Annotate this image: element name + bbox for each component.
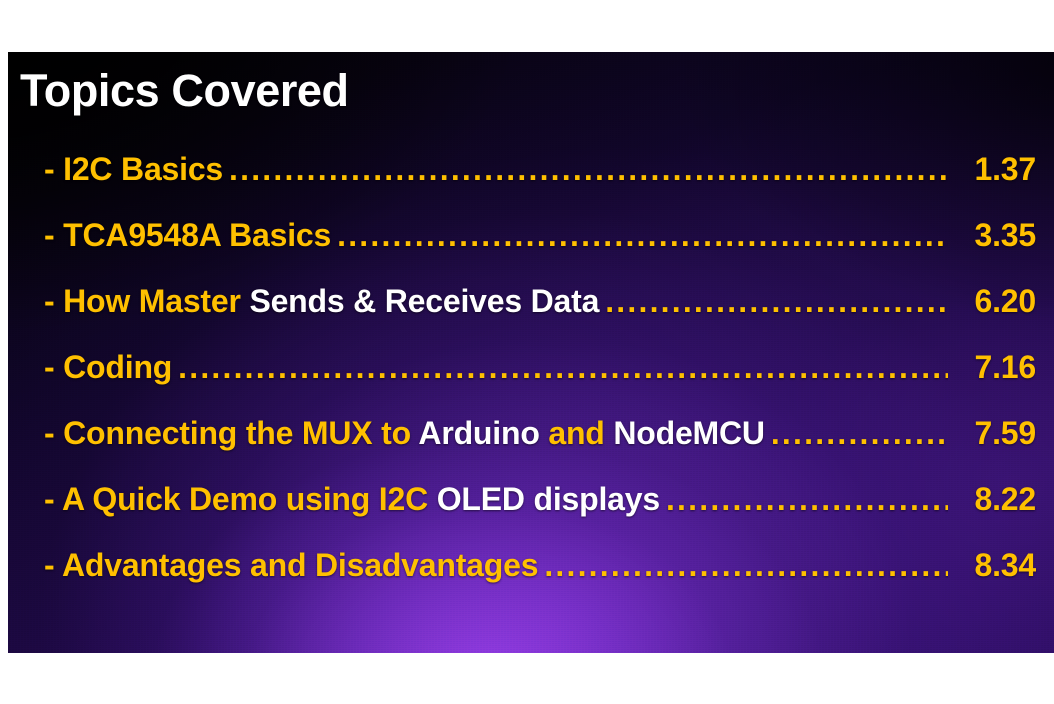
page-title: Topics Covered [20,68,349,113]
slide-frame: Topics Covered - I2C Basics1.37- TCA9548… [0,0,1054,704]
topic-label: - I2C Basics [44,151,223,188]
topic-list: - I2C Basics1.37- TCA9548A Basics3.35- H… [44,151,1036,613]
topic-label-segment: - TCA9548A Basics [44,217,331,253]
topic-page-number: 8.34 [952,547,1036,584]
topic-label-segment: Arduino [418,415,548,451]
topic-label-segment: - Advantages and Disadvantages [44,547,538,583]
leader-dots [771,415,948,452]
topic-label: - Connecting the MUX to Arduino and Node… [44,415,765,452]
topic-page-number: 7.16 [952,349,1036,386]
topic-row[interactable]: - Connecting the MUX to Arduino and Node… [44,415,1036,481]
topic-row[interactable]: - Coding7.16 [44,349,1036,415]
slide-content: Topics Covered - I2C Basics1.37- TCA9548… [8,52,1054,653]
topic-label: - A Quick Demo using I2C OLED displays [44,481,660,518]
topic-page-number: 6.20 [952,283,1036,320]
leader-dots [605,283,948,320]
topic-label: - How Master Sends & Receives Data [44,283,599,320]
topic-label-segment: and [548,415,613,451]
topic-row[interactable]: - A Quick Demo using I2C OLED displays8.… [44,481,1036,547]
leader-dots [229,151,948,188]
leader-dots [178,349,948,386]
topic-label-segment: - I2C Basics [44,151,223,187]
topic-page-number: 1.37 [952,151,1036,188]
topic-label-segment: - How Master [44,283,249,319]
topic-label-segment: NodeMCU [613,415,764,451]
topic-label: - Coding [44,349,172,386]
topic-label-segment: - A Quick Demo using I2C [44,481,437,517]
topic-label: - Advantages and Disadvantages [44,547,538,584]
topic-label-segment: OLED displays [437,481,660,517]
topic-row[interactable]: - Advantages and Disadvantages8.34 [44,547,1036,613]
topic-row[interactable]: - I2C Basics1.37 [44,151,1036,217]
topic-label-segment: - Coding [44,349,172,385]
topic-page-number: 7.59 [952,415,1036,452]
topic-page-number: 3.35 [952,217,1036,254]
topic-row[interactable]: - TCA9548A Basics3.35 [44,217,1036,283]
topic-label-segment: - Connecting the MUX to [44,415,418,451]
slide-canvas: Topics Covered - I2C Basics1.37- TCA9548… [8,52,1054,653]
topic-label-segment: Sends & Receives Data [249,283,599,319]
topic-page-number: 8.22 [952,481,1036,518]
topic-row[interactable]: - How Master Sends & Receives Data6.20 [44,283,1036,349]
leader-dots [337,217,948,254]
leader-dots [666,481,948,518]
topic-label: - TCA9548A Basics [44,217,331,254]
leader-dots [544,547,948,584]
